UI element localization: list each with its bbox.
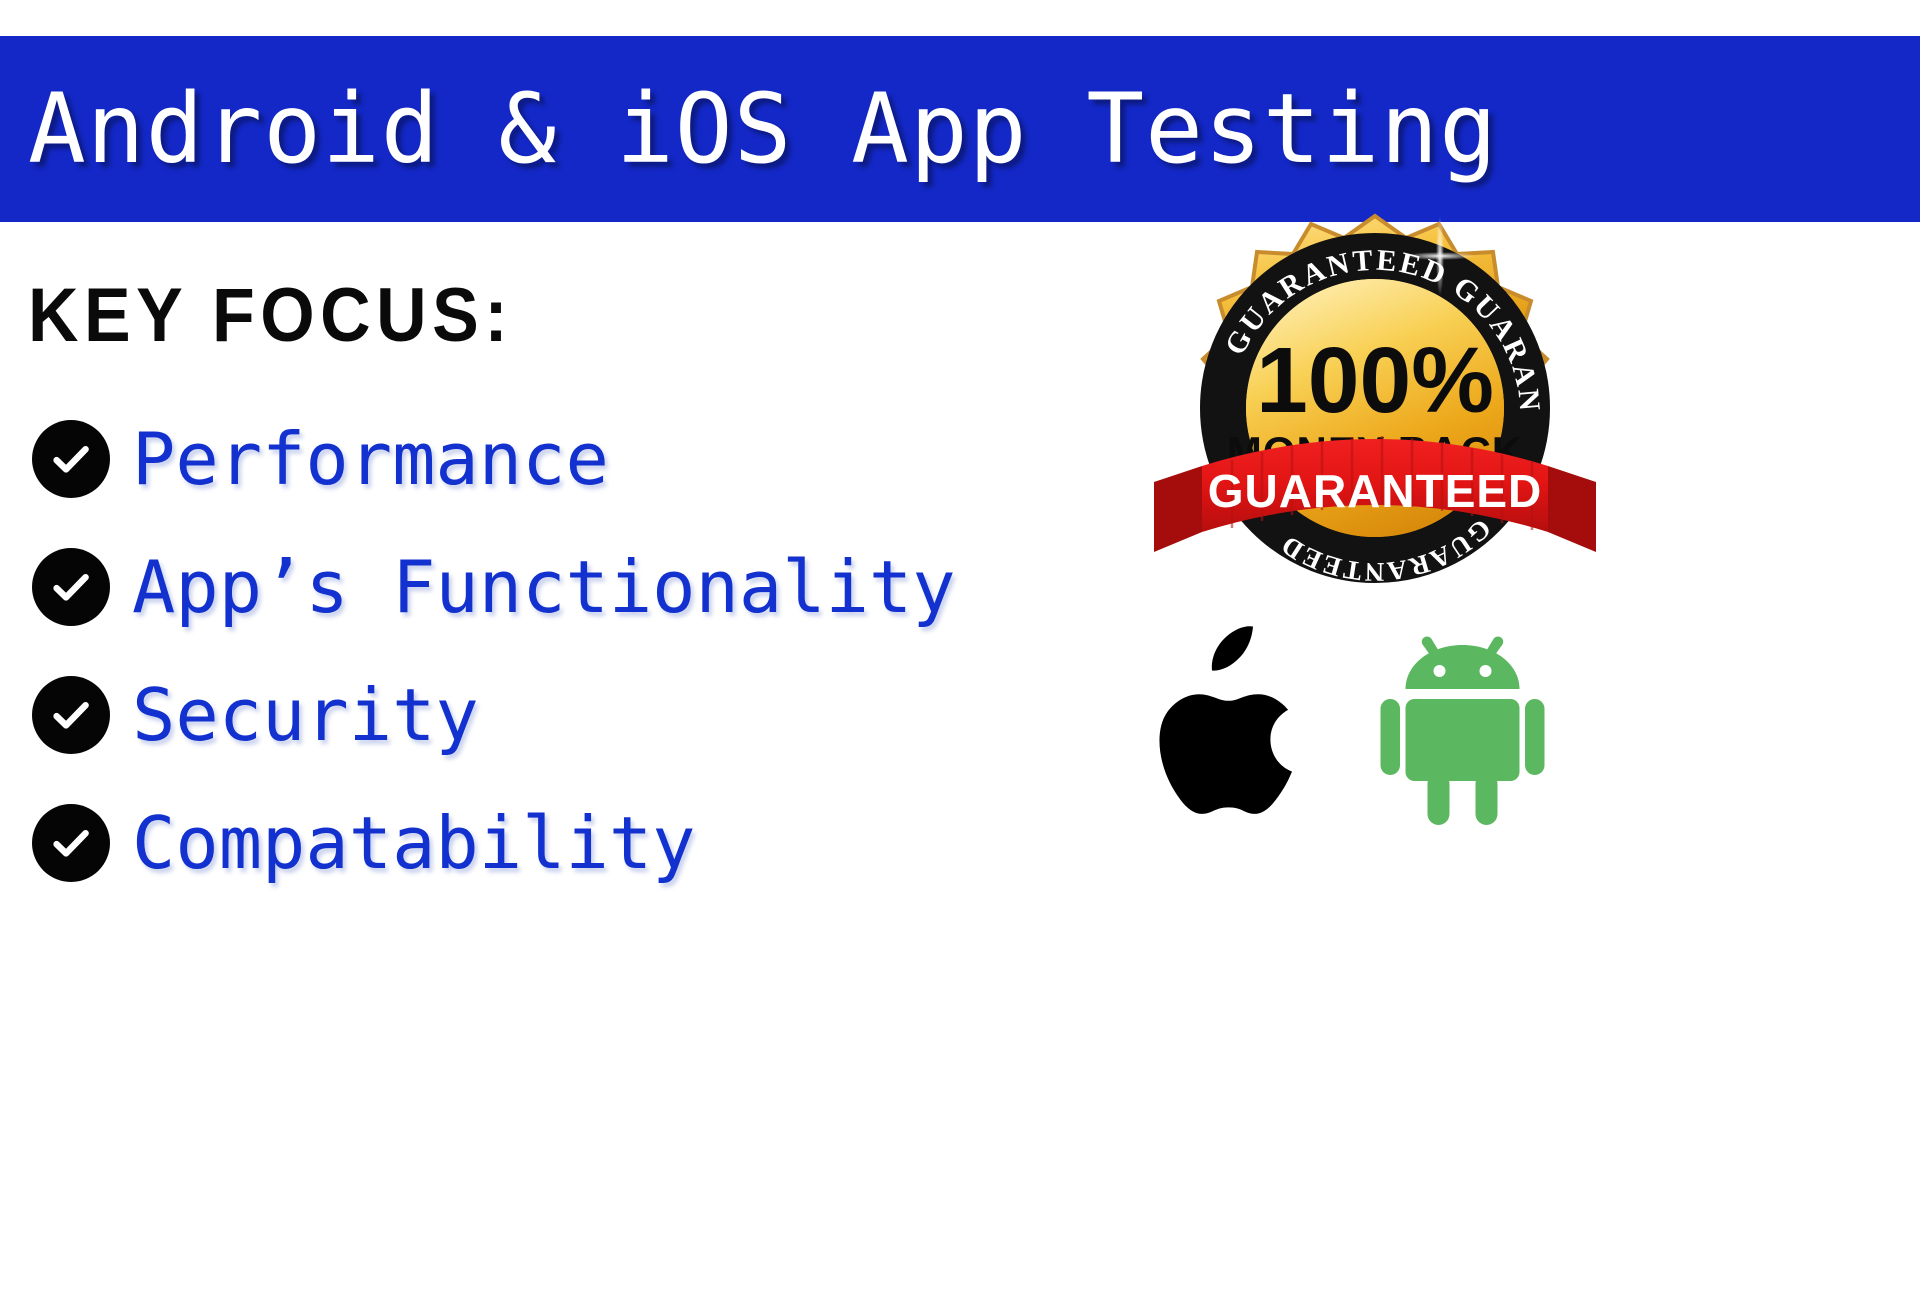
android-logo-icon bbox=[1375, 623, 1550, 828]
apple-logo-icon bbox=[1130, 623, 1305, 828]
list-item: Performance bbox=[0, 395, 1120, 523]
check-circle-icon bbox=[32, 676, 110, 754]
platform-logos bbox=[1130, 610, 1590, 840]
slide-canvas: Android & iOS App Testing KEY FOCUS: Per… bbox=[0, 0, 1920, 1290]
focus-item-label: App’s Functionality bbox=[132, 551, 956, 623]
check-circle-icon bbox=[32, 420, 110, 498]
ribbon-label: GUARANTEED bbox=[1208, 465, 1543, 517]
list-item: Compatability bbox=[0, 779, 1120, 907]
focus-item-label: Performance bbox=[132, 423, 609, 495]
key-focus-heading: KEY FOCUS: bbox=[28, 272, 1033, 359]
check-circle-icon bbox=[32, 804, 110, 882]
key-focus-section: KEY FOCUS: Performance App’s Functionali… bbox=[0, 222, 1120, 907]
focus-item-label: Security bbox=[132, 679, 479, 751]
badge-percent-text: 100% bbox=[1256, 328, 1494, 432]
check-circle-icon bbox=[32, 548, 110, 626]
badges-and-logos-section: GUARANTEED GUARANTEED GUARANTEED 100% MO… bbox=[1120, 180, 1920, 1080]
list-item: App’s Functionality bbox=[0, 523, 1120, 651]
focus-list: Performance App’s Functionality Security bbox=[0, 395, 1120, 907]
focus-item-label: Compatability bbox=[132, 807, 696, 879]
list-item: Security bbox=[0, 651, 1120, 779]
money-back-guarantee-badge: GUARANTEED GUARANTEED GUARANTEED 100% MO… bbox=[1140, 180, 1610, 600]
page-title: Android & iOS App Testing bbox=[28, 73, 1498, 185]
